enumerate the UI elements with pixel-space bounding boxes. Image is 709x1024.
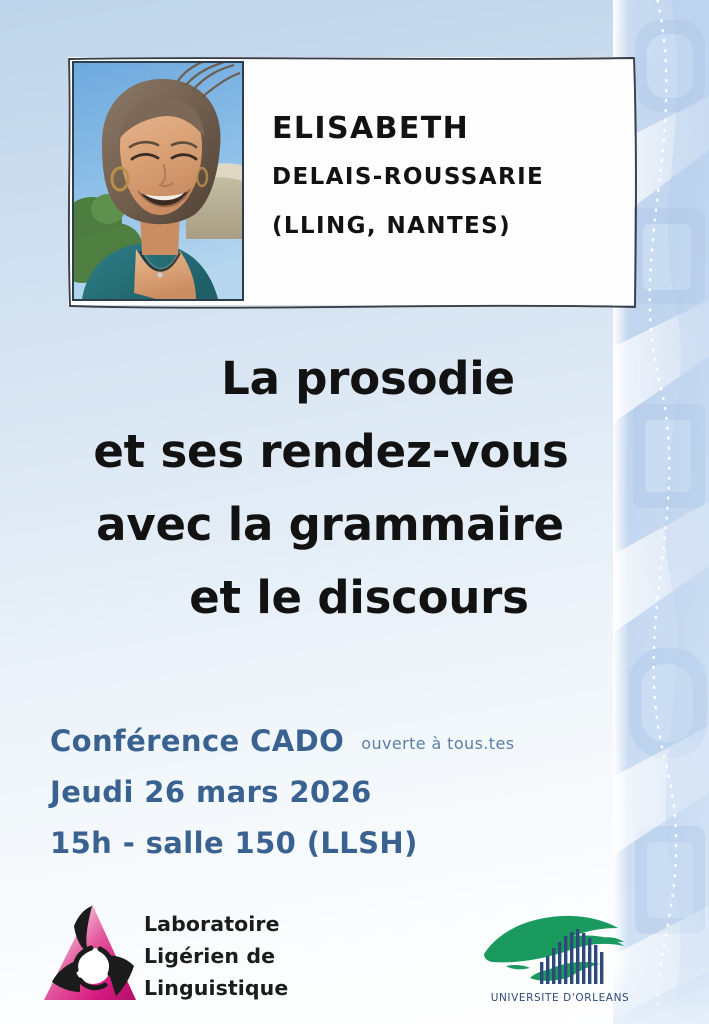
speaker-name-line-1: ELISABETH [272, 104, 628, 153]
speaker-name-line-2: DELAIS-ROUSSARIE [272, 153, 628, 202]
event-details: Conférence CADO ouverte à tous.tes Jeudi… [50, 718, 514, 871]
laboratoire-ligerien-de-linguistique-logo: Laboratoire Ligérien de Linguistique [40, 896, 298, 1018]
lll-text-line-2: Ligérien de [144, 940, 288, 972]
title-line-4: et le discours [40, 561, 618, 634]
conference-poster: ELISABETH DELAIS-ROUSSARIE (LLING, NANTE… [0, 0, 709, 1024]
conference-row: Conférence CADO ouverte à tous.tes [50, 718, 514, 769]
title-line-2: et ses rendez-vous [40, 415, 618, 488]
event-date: Jeudi 26 mars 2026 [50, 775, 372, 809]
lll-logo-text: Laboratoire Ligérien de Linguistique [144, 908, 288, 1004]
universite-d-orleans-logo: UNIVERSITE D'ORLEANS [478, 908, 636, 1016]
speaker-portrait [72, 61, 244, 301]
page-title: La prosodie et ses rendez-vous avec la g… [40, 342, 618, 634]
uo-caption: UNIVERSITE D'ORLEANS [484, 992, 636, 1004]
conference-label: Conférence CADO [50, 724, 344, 758]
event-time-place: 15h - salle 150 (LLSH) [50, 826, 418, 860]
date-row: Jeudi 26 mars 2026 [50, 769, 514, 820]
speaker-name-block: ELISABETH DELAIS-ROUSSARIE (LLING, NANTE… [272, 104, 628, 251]
uo-brush-mark [478, 908, 636, 1000]
open-to-all-note: ouverte à tous.tes [349, 734, 514, 753]
speaker-affiliation: (LLING, NANTES) [272, 202, 628, 251]
lll-text-line-3: Linguistique [144, 972, 288, 1004]
lll-triangle-mark [40, 896, 140, 1014]
title-line-3: avec la grammaire [40, 488, 618, 561]
title-line-1: La prosodie [40, 342, 618, 415]
lll-text-line-1: Laboratoire [144, 908, 288, 940]
time-place-row: 15h - salle 150 (LLSH) [50, 820, 514, 871]
